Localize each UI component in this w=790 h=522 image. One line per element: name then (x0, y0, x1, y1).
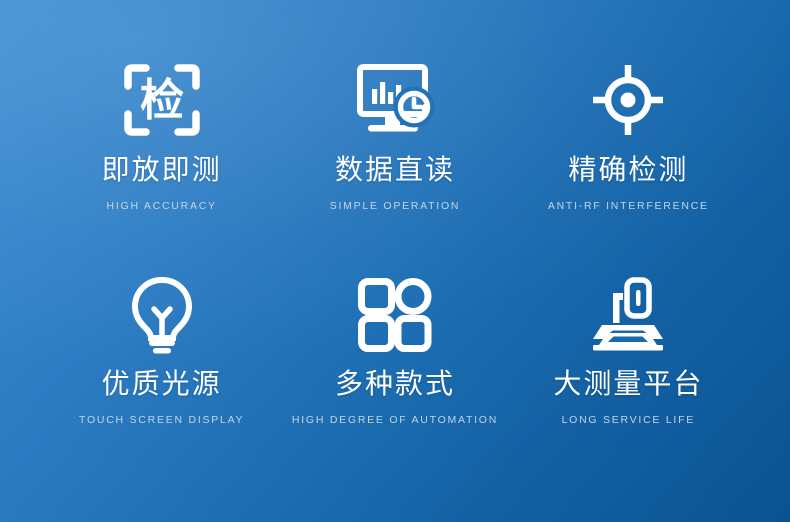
feature-grid: 检 即放即测 HIGH ACCURACY (45, 0, 745, 492)
feature-item-measuring-platform[interactable]: 大测量平台 LONG SERVICE LIFE (512, 277, 745, 492)
feature-title: 精确检测 (568, 157, 688, 185)
grid-squares-circle-icon (357, 277, 433, 353)
feature-item-lightbulb[interactable]: 优质光源 TOUCH SCREEN DISPLAY (45, 277, 278, 492)
feature-subtitle: SIMPLE OPERATION (330, 201, 461, 212)
feature-title: 优质光源 (102, 371, 222, 399)
feature-item-grid-squares-circle[interactable]: 多种款式 HIGH DEGREE OF AUTOMATION (278, 277, 511, 492)
crosshair-target-icon (590, 62, 666, 138)
feature-item-scan-frame-inspect[interactable]: 检 即放即测 HIGH ACCURACY (45, 62, 278, 277)
feature-subtitle: TOUCH SCREEN DISPLAY (79, 415, 244, 426)
feature-subtitle: LONG SERVICE LIFE (562, 415, 695, 426)
svg-text:检: 检 (140, 76, 184, 125)
monitor-chart-clock-icon (354, 62, 436, 138)
feature-title: 即放即测 (102, 157, 222, 185)
feature-title: 大测量平台 (553, 371, 703, 399)
feature-title: 多种款式 (335, 371, 455, 399)
feature-banner: 检 即放即测 HIGH ACCURACY (0, 0, 790, 522)
lightbulb-icon (127, 277, 197, 353)
scan-frame-inspect-icon: 检 (123, 62, 201, 138)
feature-title: 数据直读 (335, 157, 455, 185)
feature-subtitle: HIGH ACCURACY (107, 201, 217, 212)
feature-subtitle: ANTI-RF INTERFERENCE (548, 201, 709, 212)
feature-item-monitor-chart-clock[interactable]: 数据直读 SIMPLE OPERATION (278, 62, 511, 277)
feature-item-crosshair-target[interactable]: 精确检测 ANTI-RF INTERFERENCE (512, 62, 745, 277)
feature-subtitle: HIGH DEGREE OF AUTOMATION (292, 415, 498, 426)
measuring-platform-icon (585, 277, 671, 353)
